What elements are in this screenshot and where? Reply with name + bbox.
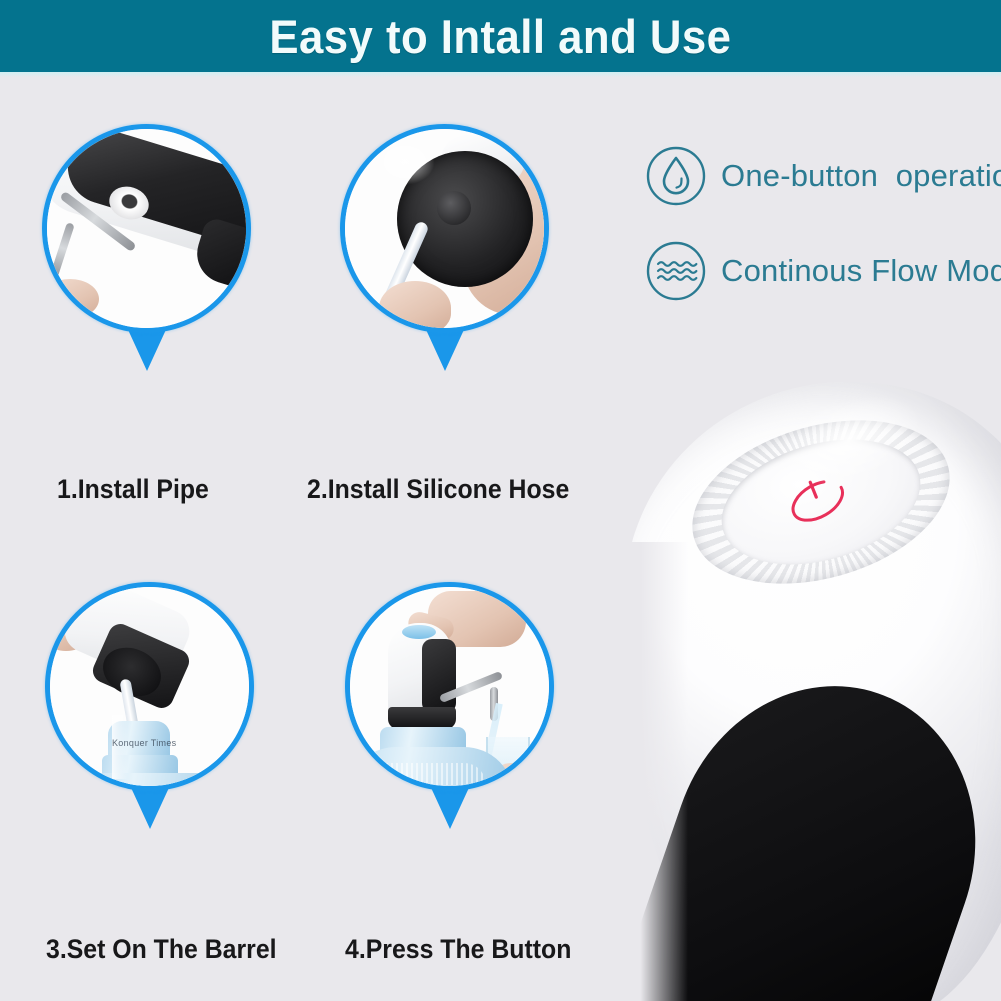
header-banner: Easy to Intall and Use <box>0 0 1001 72</box>
step-photo-2 <box>345 129 544 328</box>
step-caption-2: 2.Install Silicone Hose <box>307 474 569 505</box>
hero-product-photo <box>618 372 1001 1001</box>
feature-row-continuous-flow: Continous Flow Mode <box>645 240 1001 302</box>
feature-label-one-button: One-button operation <box>721 158 1001 194</box>
feature-label-continuous-flow: Continous Flow Mode <box>721 253 1001 289</box>
pin-frame-3: Konquer Times <box>45 582 254 791</box>
step-photo-4 <box>350 587 549 786</box>
waves-icon <box>645 240 707 302</box>
page-title: Easy to Intall and Use <box>269 9 731 64</box>
banner-underline <box>0 72 1001 77</box>
step-photo-3: Konquer Times <box>50 587 249 786</box>
water-drop-icon <box>645 145 707 207</box>
hero-left-fade <box>618 542 688 1001</box>
step-photo-1 <box>47 129 246 328</box>
feature-row-one-button: One-button operation <box>645 145 1001 207</box>
pin-frame-1 <box>42 124 251 333</box>
photo-watermark: Konquer Times <box>112 738 176 748</box>
step-card-4 <box>345 582 554 791</box>
step-caption-1: 1.Install Pipe <box>57 474 209 505</box>
step-card-2 <box>340 124 549 333</box>
pin-frame-2 <box>340 124 549 333</box>
step-card-1 <box>42 124 251 333</box>
pin-frame-4 <box>345 582 554 791</box>
step-caption-3: 3.Set On The Barrel <box>46 934 277 965</box>
step-caption-4: 4.Press The Button <box>345 934 571 965</box>
step-card-3: Konquer Times <box>45 582 254 791</box>
